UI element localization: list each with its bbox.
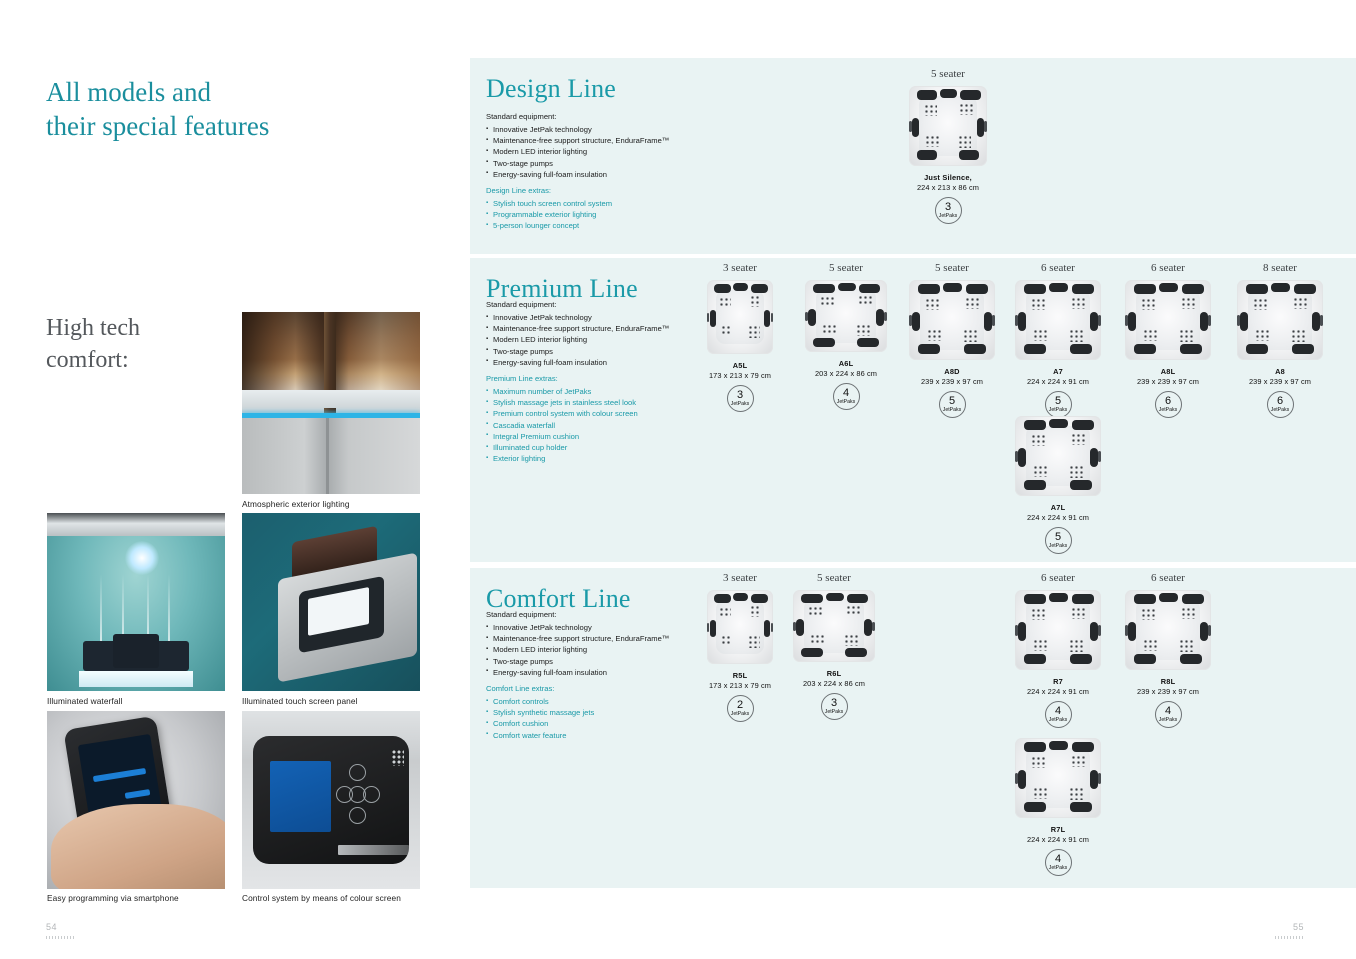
- hot-tub-jets: [749, 636, 760, 648]
- hot-tub-headrest: [733, 593, 748, 601]
- hot-tub-headrest: [918, 284, 940, 294]
- hot-tub-headrest: [1018, 448, 1026, 467]
- section-subtitle-line2: comfort:: [46, 347, 129, 373]
- hot-tub-headrest: [710, 620, 716, 638]
- hot-tub-headrest: [751, 284, 768, 294]
- jetpaks-label: JetPaks: [731, 402, 749, 407]
- product-dimensions: 239 x 239 x 97 cm: [1110, 687, 1226, 696]
- page-title: All models and their special features: [46, 75, 386, 143]
- hot-tub-jets: [1180, 640, 1194, 653]
- hot-tub-headrest: [1049, 741, 1068, 750]
- hot-tub-headrest: [1024, 344, 1046, 354]
- hot-tub-side-control: [1015, 315, 1018, 325]
- product-seat-count: 5 seater: [894, 262, 1010, 274]
- jetpaks-count: 4: [1055, 854, 1061, 865]
- product-image: [776, 588, 892, 664]
- hot-tub-jets: [1034, 330, 1048, 341]
- product-card[interactable]: 5 seaterJust Silence,224 x 213 x 86 cm3J…: [890, 68, 1006, 224]
- jetpaks-badge: 4JetPaks: [833, 383, 860, 410]
- product-dimensions: 224 x 224 x 91 cm: [1000, 835, 1116, 844]
- product-image: [1000, 414, 1116, 498]
- hot-tub-jets: [1142, 609, 1156, 620]
- extras-heading-design: Design Line extras:: [486, 186, 716, 195]
- page-title-line1: All models and: [46, 77, 211, 107]
- hot-tub-headrest: [912, 118, 919, 137]
- hot-tub-side-control: [1015, 773, 1018, 783]
- product-image: [890, 84, 1006, 168]
- hot-tub-jets: [821, 297, 834, 307]
- product-card[interactable]: 8 seaterA8239 x 239 x 97 cm6JetPaks: [1222, 262, 1338, 418]
- hot-tub-jets: [823, 325, 836, 335]
- standard-equipment-heading: Standard equipment:: [486, 112, 716, 121]
- hot-tub-side-control: [707, 313, 709, 323]
- hot-tub-headrest: [1200, 312, 1208, 331]
- jetpaks-badge: 6JetPaks: [1267, 391, 1294, 418]
- standard-equipment-item: Innovative JetPak technology: [486, 124, 716, 135]
- hot-tub-headrest: [960, 90, 980, 100]
- hot-tub-headrest: [977, 118, 984, 137]
- jetpaks-count: 2: [737, 700, 743, 711]
- photo-cabinet-corner: [326, 418, 329, 494]
- hot-tub-top-view: [1015, 738, 1101, 818]
- hot-tub-headrest: [1072, 594, 1094, 604]
- hot-tub-jets: [1072, 756, 1086, 767]
- jetpaks-count: 3: [831, 698, 837, 709]
- hot-tub-headrest: [826, 593, 844, 601]
- hot-tub-side-control: [1098, 773, 1101, 783]
- hot-tub-headrest: [1024, 802, 1046, 812]
- extras-item: Exterior lighting: [486, 453, 716, 464]
- hot-tub-jets: [857, 325, 870, 337]
- hot-tub-jets: [751, 296, 762, 306]
- product-card[interactable]: R7L224 x 224 x 91 cm4JetPaks: [1000, 732, 1116, 876]
- product-seat-count: 6 seater: [1000, 262, 1116, 274]
- hot-tub-headrest: [1090, 312, 1098, 331]
- product-dimensions: 224 x 213 x 86 cm: [890, 183, 1006, 192]
- hot-tub-side-control: [872, 622, 875, 631]
- photo-smartphone-programming: [47, 711, 225, 889]
- jetpaks-label: JetPaks: [943, 408, 961, 413]
- hot-tub-jets: [1070, 640, 1084, 653]
- jetpaks-label: JetPaks: [731, 712, 749, 717]
- jetpaks-badge: 2JetPaks: [727, 695, 754, 722]
- product-image: [1222, 278, 1338, 362]
- product-card[interactable]: 5 seaterA6L203 x 224 x 86 cm4JetPaks: [788, 262, 904, 410]
- caption-illuminated-waterfall: Illuminated waterfall: [47, 696, 122, 706]
- hot-tub-top-view: [793, 590, 875, 662]
- product-card[interactable]: A7L224 x 224 x 91 cm5JetPaks: [1000, 410, 1116, 554]
- standard-equipment-item: Energy-saving full-foam insulation: [486, 169, 716, 180]
- caption-smartphone-programming: Easy programming via smartphone: [47, 893, 179, 903]
- line-title-design: Design Line: [486, 74, 616, 104]
- jetpaks-badge: 4JetPaks: [1155, 701, 1182, 728]
- hot-tub-jets: [720, 608, 731, 618]
- hot-tub-headrest: [966, 284, 988, 294]
- product-name: A8L: [1110, 367, 1226, 376]
- photo-colour-screen: [270, 761, 331, 832]
- hot-tub-headrest: [1090, 622, 1098, 641]
- jetpaks-count: 5: [1055, 396, 1061, 407]
- hot-tub-jets: [926, 136, 938, 147]
- hot-tub-side-control: [1098, 315, 1101, 325]
- product-image: [1110, 588, 1226, 672]
- product-name: R8L: [1110, 677, 1226, 686]
- product-name: A7: [1000, 367, 1116, 376]
- hot-tub-headrest: [1070, 344, 1092, 354]
- hot-tub-jets: [1144, 330, 1158, 341]
- hot-tub-headrest: [917, 90, 937, 100]
- hot-tub-jets: [1256, 330, 1270, 341]
- hot-tub-headrest: [1128, 622, 1136, 641]
- hot-tub-top-view: [909, 280, 995, 360]
- photo-down-button: [349, 807, 366, 824]
- hot-tub-side-control: [1098, 451, 1101, 461]
- hot-tub-side-control: [793, 622, 796, 631]
- product-name: R7L: [1000, 825, 1116, 834]
- hot-tub-side-control: [1015, 625, 1018, 635]
- standard-equipment-item: Modern LED interior lighting: [486, 146, 716, 157]
- jetpaks-label: JetPaks: [1049, 718, 1067, 723]
- hot-tub-side-control: [909, 315, 912, 325]
- photo-light-glow: [125, 541, 159, 575]
- hot-tub-headrest: [764, 310, 770, 328]
- caption-atmospheric-exterior-lighting: Atmospheric exterior lighting: [242, 499, 350, 509]
- hot-tub-headrest: [859, 284, 880, 293]
- photo-spa-deck: [242, 390, 420, 408]
- hot-tub-headrest: [751, 594, 768, 604]
- product-dimensions: 239 x 239 x 97 cm: [1110, 377, 1226, 386]
- hot-tub-headrest: [1090, 448, 1098, 467]
- hot-tub-headrest: [1072, 284, 1094, 294]
- hot-tub-headrest: [1024, 420, 1046, 430]
- product-seat-count: 5 seater: [776, 572, 892, 584]
- product-name: A5L: [682, 361, 798, 370]
- photo-water-spray: [100, 574, 102, 645]
- hot-tub-jets: [928, 330, 942, 341]
- hot-tub-side-control: [1098, 625, 1101, 635]
- product-card[interactable]: 6 seaterR8L239 x 239 x 97 cm4JetPaks: [1110, 572, 1226, 728]
- hot-tub-side-control: [1125, 625, 1128, 635]
- hot-tub-headrest: [1182, 594, 1204, 604]
- product-dimensions: 224 x 224 x 91 cm: [1000, 513, 1116, 522]
- jetpaks-label: JetPaks: [1049, 866, 1067, 871]
- hot-tub-jets: [1034, 788, 1048, 799]
- product-dimensions: 239 x 239 x 97 cm: [1222, 377, 1338, 386]
- hot-tub-top-view: [1015, 280, 1101, 360]
- product-card[interactable]: 3 seaterA5L173 x 213 x 79 cm3JetPaks: [682, 262, 798, 412]
- hot-tub-side-control: [1208, 625, 1211, 635]
- hot-tub-headrest: [1200, 622, 1208, 641]
- jetpaks-count: 3: [737, 390, 743, 401]
- extras-item: Illuminated cup holder: [486, 442, 716, 453]
- hot-tub-jets: [720, 298, 731, 308]
- photo-right-button: [363, 786, 380, 803]
- jetpaks-badge: 6JetPaks: [1155, 391, 1182, 418]
- catalogue-spread: All models and their special features Hi…: [0, 0, 1356, 959]
- photo-atmospheric-exterior-lighting: [242, 312, 420, 494]
- jetpaks-label: JetPaks: [1049, 544, 1067, 549]
- hot-tub-headrest: [714, 594, 731, 604]
- hot-tub-jets: [1070, 330, 1084, 343]
- panel-comfort-line: Comfort LineStandard equipment:Innovativ…: [470, 568, 1356, 888]
- hot-tub-headrest: [1128, 312, 1136, 331]
- photo-control-system-colour-screen: [242, 711, 420, 889]
- hot-tub-headrest: [847, 594, 868, 603]
- hot-tub-headrest: [943, 283, 962, 292]
- hot-tub-side-control: [909, 121, 912, 131]
- extras-item: Comfort water feature: [486, 730, 716, 741]
- hot-tub-jets: [859, 296, 872, 306]
- hot-tub-headrest: [733, 283, 748, 291]
- photo-illuminated-touch-screen-panel: [242, 513, 420, 691]
- product-name: R6L: [776, 669, 892, 678]
- product-dimensions: 203 x 224 x 86 cm: [788, 369, 904, 378]
- jetpaks-count: 3: [945, 202, 951, 213]
- section-subtitle: High tech comfort:: [46, 312, 246, 376]
- photo-illuminated-waterfall: [47, 513, 225, 691]
- hot-tub-headrest: [1134, 594, 1156, 604]
- page-number-right: 55: [1293, 922, 1304, 932]
- hot-tub-jets: [845, 635, 858, 647]
- hot-tub-jets: [1072, 298, 1086, 309]
- hot-tub-headrest: [813, 284, 834, 293]
- jetpaks-label: JetPaks: [825, 710, 843, 715]
- hot-tub-top-view: [1015, 416, 1101, 496]
- hot-tub-headrest: [1240, 312, 1248, 331]
- hot-tub-jets: [1072, 608, 1086, 619]
- hot-tub-jets: [1182, 608, 1196, 619]
- jetpaks-count: 6: [1165, 396, 1171, 407]
- hot-tub-jets: [1180, 330, 1194, 343]
- hot-tub-headrest: [912, 312, 920, 331]
- extras-list-design: Stylish touch screen control systemProgr…: [486, 198, 716, 232]
- caption-illuminated-touch-screen-panel: Illuminated touch screen panel: [242, 696, 358, 706]
- hot-tub-jets: [926, 299, 940, 310]
- product-seat-count: 5 seater: [890, 68, 1006, 80]
- jetpaks-badge: 5JetPaks: [1045, 527, 1072, 554]
- product-card[interactable]: 5 seaterR6L203 x 224 x 86 cm3JetPaks: [776, 572, 892, 720]
- hot-tub-headrest: [1049, 593, 1068, 602]
- hot-tub-headrest: [1018, 312, 1026, 331]
- hot-tub-headrest: [864, 619, 871, 636]
- product-card[interactable]: 6 seaterA8L239 x 239 x 97 cm6JetPaks: [1110, 262, 1226, 418]
- hot-tub-headrest: [1312, 312, 1320, 331]
- hot-tub-jets: [1182, 298, 1196, 309]
- hot-tub-side-control: [992, 315, 995, 325]
- hot-tub-jets: [722, 326, 733, 336]
- hot-tub-jets: [1254, 299, 1268, 310]
- product-image: [1000, 736, 1116, 820]
- hot-tub-top-view: [1125, 280, 1211, 360]
- hot-tub-headrest: [857, 338, 878, 347]
- extras-item: Integral Premium cushion: [486, 431, 716, 442]
- hot-tub-headrest: [984, 312, 992, 331]
- jetpaks-count: 4: [1165, 706, 1171, 717]
- hot-tub-headrest: [1070, 480, 1092, 490]
- panel-design-line: Design LineStandard equipment:Innovative…: [470, 58, 1356, 254]
- hot-tub-headrest: [1134, 344, 1156, 354]
- hot-tub-headrest: [1292, 344, 1314, 354]
- hot-tub-headrest: [714, 284, 731, 294]
- product-image: [682, 278, 798, 356]
- hot-tub-side-control: [1015, 451, 1018, 461]
- product-image: [1110, 278, 1226, 362]
- hot-tub-jets: [1032, 757, 1046, 768]
- product-seat-count: 8 seater: [1222, 262, 1338, 274]
- hot-tub-headrest: [1134, 284, 1156, 294]
- hot-tub-headrest: [1024, 742, 1046, 752]
- hot-tub-jets: [959, 136, 971, 149]
- hot-tub-headrest: [1271, 283, 1290, 292]
- jetpaks-count: 4: [1055, 706, 1061, 717]
- product-card[interactable]: 6 seaterR7224 x 224 x 91 cm4JetPaks: [1000, 572, 1116, 728]
- hot-tub-headrest: [918, 344, 940, 354]
- product-name: A8: [1222, 367, 1338, 376]
- hot-tub-headrest: [801, 594, 822, 603]
- hot-tub-headrest: [1180, 654, 1202, 664]
- photo-waterfall-center: [113, 634, 159, 668]
- hot-tub-jets: [1034, 466, 1048, 477]
- photo-brand-logo: [338, 845, 409, 855]
- product-card[interactable]: 6 seaterA7224 x 224 x 91 cm5JetPaks: [1000, 262, 1116, 418]
- product-dimensions: 224 x 224 x 91 cm: [1000, 687, 1116, 696]
- hot-tub-jets: [751, 606, 762, 616]
- photo-water-spray: [168, 574, 170, 645]
- photo-hand: [51, 804, 225, 889]
- extras-item: 5-person lounger concept: [486, 220, 716, 231]
- hot-tub-jets: [722, 636, 733, 646]
- hot-tub-headrest: [1159, 283, 1178, 292]
- hot-tub-headrest: [1180, 344, 1202, 354]
- hot-tub-headrest: [1049, 283, 1068, 292]
- hot-tub-jets: [964, 330, 978, 343]
- hot-tub-headrest: [808, 309, 815, 326]
- hot-tub-headrest: [1159, 593, 1178, 602]
- product-seat-count: 6 seater: [1110, 262, 1226, 274]
- photo-keypad-dots: [392, 750, 404, 766]
- product-image: [1000, 588, 1116, 672]
- hot-tub-jets: [847, 606, 860, 616]
- hot-tub-jets: [1072, 434, 1086, 445]
- hot-tub-jets: [811, 635, 824, 645]
- hot-tub-jets: [1294, 298, 1308, 309]
- hot-tub-side-control: [1208, 315, 1211, 325]
- jetpaks-label: JetPaks: [1159, 408, 1177, 413]
- hot-tub-headrest: [917, 150, 937, 160]
- hot-tub-headrest: [845, 648, 866, 657]
- product-image: [1000, 278, 1116, 362]
- hot-tub-headrest: [1049, 419, 1068, 428]
- hot-tub-jets: [1032, 609, 1046, 620]
- product-seat-count: 5 seater: [788, 262, 904, 274]
- product-card[interactable]: 5 seaterA8D239 x 239 x 97 cm5JetPaks: [894, 262, 1010, 418]
- panel-premium-line: Premium LineStandard equipment:Innovativ…: [470, 258, 1356, 562]
- jetpaks-count: 6: [1277, 396, 1283, 407]
- hot-tub-jets: [749, 326, 760, 338]
- product-name: R7: [1000, 677, 1116, 686]
- product-seat-count: 6 seater: [1110, 572, 1226, 584]
- hot-tub-headrest: [1070, 802, 1092, 812]
- jetpaks-badge: 3JetPaks: [727, 385, 754, 412]
- hot-tub-side-control: [771, 313, 773, 323]
- jetpaks-badge: 4JetPaks: [1045, 701, 1072, 728]
- extras-item: Programmable exterior lighting: [486, 209, 716, 220]
- product-image: [788, 278, 904, 354]
- hot-tub-headrest: [1090, 770, 1098, 789]
- extras-item: Stylish touch screen control system: [486, 198, 716, 209]
- hot-tub-side-control: [1125, 315, 1128, 325]
- standard-equipment-list: Innovative JetPak technologyMaintenance-…: [486, 124, 716, 180]
- product-dimensions: 173 x 213 x 79 cm: [682, 371, 798, 380]
- jetpaks-badge: 4JetPaks: [1045, 849, 1072, 876]
- hot-tub-top-view: [805, 280, 887, 352]
- hot-tub-side-control: [1320, 315, 1323, 325]
- product-image: [894, 278, 1010, 362]
- standard-equipment-item: Maintenance-free support structure, Endu…: [486, 135, 716, 146]
- jetpaks-count: 5: [949, 396, 955, 407]
- hot-tub-headrest: [940, 89, 957, 98]
- hot-tub-side-control: [884, 312, 887, 321]
- hot-tub-jets: [1070, 788, 1084, 801]
- hot-tub-top-view: [707, 590, 773, 664]
- hot-tub-headrest: [1246, 284, 1268, 294]
- hot-tub-headrest: [1024, 654, 1046, 664]
- product-seat-count: 6 seater: [1000, 572, 1116, 584]
- hot-tub-jets: [1292, 330, 1306, 343]
- hot-tub-headrest: [1018, 770, 1026, 789]
- hot-tub-jets: [809, 607, 822, 617]
- jetpaks-badge: 5JetPaks: [939, 391, 966, 418]
- hot-tub-top-view: [909, 86, 987, 166]
- jetpaks-badge: 3JetPaks: [935, 197, 962, 224]
- caption-control-system-colour-screen: Control system by means of colour screen: [242, 893, 401, 903]
- page-number-rule: [46, 936, 76, 939]
- hot-tub-headrest: [838, 283, 856, 291]
- jetpaks-count: 4: [843, 388, 849, 399]
- hot-tub-top-view: [1125, 590, 1211, 670]
- extras-item: Cascadia waterfall: [486, 420, 716, 431]
- hot-tub-jets: [925, 105, 937, 116]
- hot-tub-top-view: [707, 280, 773, 354]
- hot-tub-headrest: [876, 309, 883, 326]
- product-seat-count: 3 seater: [682, 262, 798, 274]
- hot-tub-top-view: [1015, 590, 1101, 670]
- hot-tub-headrest: [1182, 284, 1204, 294]
- hot-tub-headrest: [1024, 284, 1046, 294]
- jetpaks-label: JetPaks: [837, 400, 855, 405]
- hot-tub-jets: [1070, 466, 1084, 479]
- jetpaks-count: 5: [1055, 532, 1061, 543]
- hot-tub-headrest: [1070, 654, 1092, 664]
- hot-tub-headrest: [1018, 622, 1026, 641]
- product-name: A8D: [894, 367, 1010, 376]
- product-name: A6L: [788, 359, 904, 368]
- left-page: All models and their special features Hi…: [0, 0, 470, 959]
- hot-tub-jets: [1034, 640, 1048, 651]
- hot-tub-headrest: [813, 338, 834, 347]
- hot-tub-headrest: [1024, 594, 1046, 604]
- hot-tub-headrest: [1072, 742, 1094, 752]
- hot-tub-headrest: [1024, 480, 1046, 490]
- hot-tub-headrest: [1134, 654, 1156, 664]
- section-subtitle-line1: High tech: [46, 315, 140, 341]
- hot-tub-headrest: [764, 620, 770, 638]
- hot-tub-side-control: [984, 121, 987, 131]
- jetpaks-label: JetPaks: [1159, 718, 1177, 723]
- hot-tub-headrest: [1246, 344, 1268, 354]
- page-number-left: 54: [46, 922, 57, 932]
- product-dimensions: 203 x 224 x 86 cm: [776, 679, 892, 688]
